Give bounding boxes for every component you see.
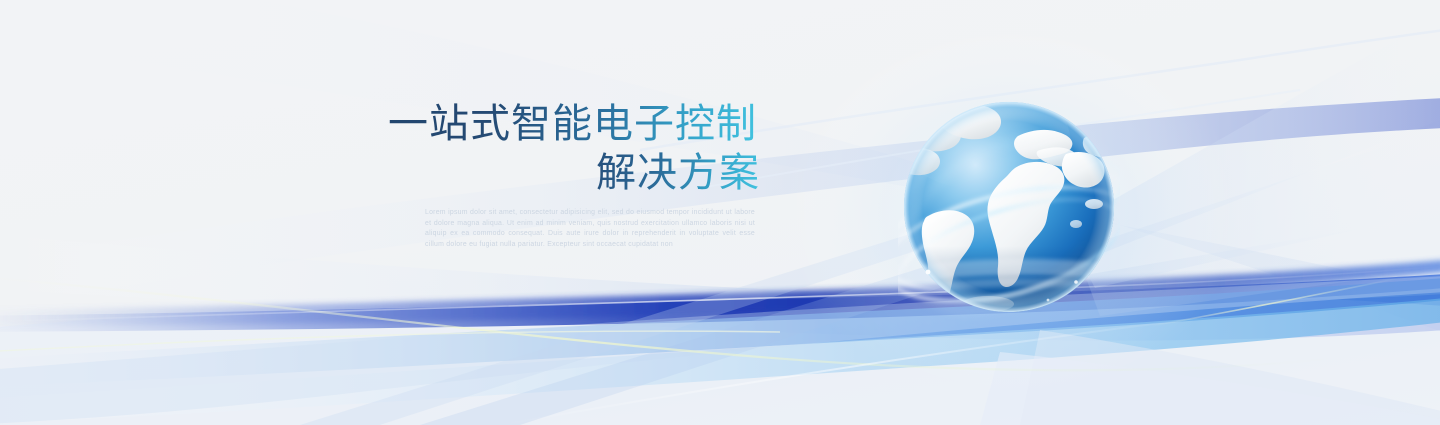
body-paragraph: Lorem ipsum dolor sit amet, consectetur … (425, 208, 755, 251)
page-title: 一站式智能电子控制 解决方案 (388, 100, 760, 198)
globe-graphic (898, 76, 1120, 338)
sparkle-3 (1047, 299, 1050, 302)
earth-globe-icon (898, 76, 1120, 338)
hero-banner: 一站式智能电子控制 解决方案 Lorem ipsum dolor sit ame… (0, 0, 1440, 425)
headline-line-2: 解决方案 (388, 149, 760, 198)
copy-block: 一站式智能电子控制 解决方案 Lorem ipsum dolor sit ame… (388, 100, 760, 251)
headline-line-1: 一站式智能电子控制 (388, 100, 760, 149)
sparkle-2 (1074, 280, 1078, 284)
sparkle-1 (926, 270, 931, 275)
